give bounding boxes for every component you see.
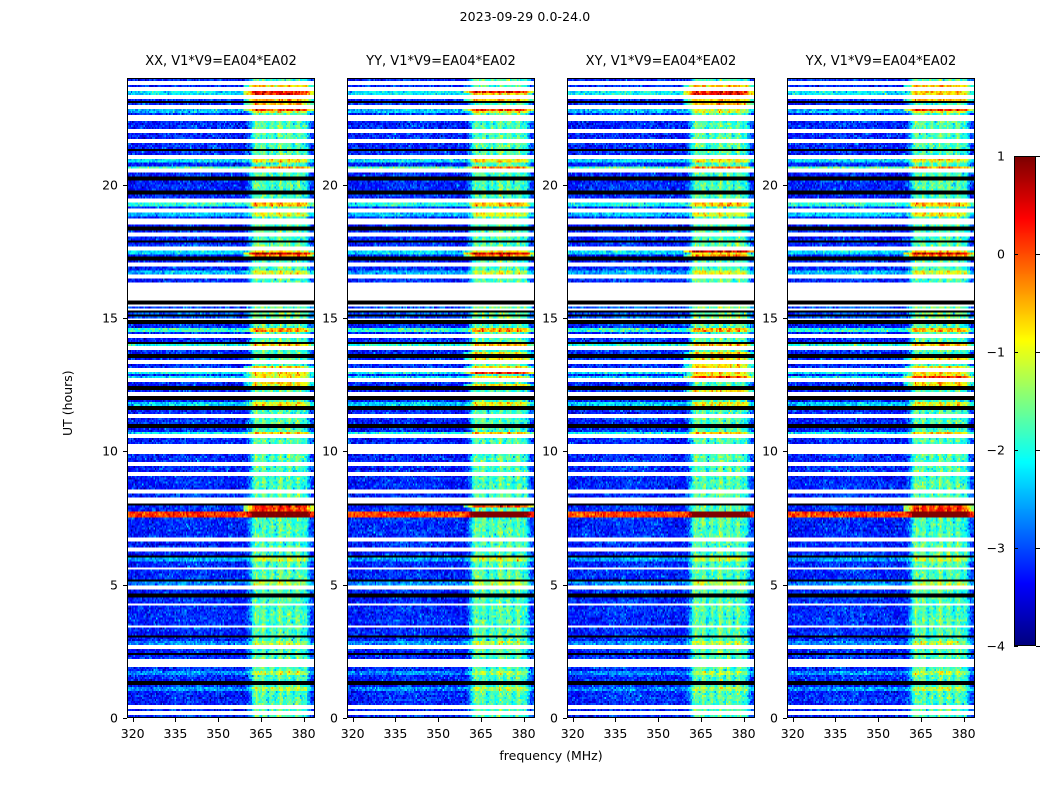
x-axis-tick: [524, 718, 525, 722]
y-axis-tick: [343, 585, 347, 586]
y-axis-tick-label: 10: [322, 444, 338, 459]
colorbar-tick: [1036, 450, 1040, 451]
x-axis-tick: [878, 718, 879, 722]
y-axis-tick-label: 0: [110, 711, 118, 726]
figure-suptitle: 2023-09-29 0.0-24.0: [0, 9, 1050, 24]
colorbar-tick: [1036, 548, 1040, 549]
x-axis-tick-label: 335: [383, 726, 407, 741]
colorbar-frame: [1014, 156, 1036, 646]
x-axis-tick: [395, 718, 396, 722]
x-axis-tick: [573, 718, 574, 722]
y-axis-tick-label: 20: [102, 177, 118, 192]
x-axis-tick-label: 365: [689, 726, 713, 741]
colorbar-tick-inner: [1014, 254, 1018, 255]
colorbar-tick-label: −3: [987, 541, 1005, 556]
x-axis-tick: [133, 718, 134, 722]
waterfall-image-xx: [128, 79, 314, 717]
y-axis-tick: [123, 318, 127, 319]
colorbar-tick-label: −2: [987, 443, 1005, 458]
x-axis-tick-label: 320: [561, 726, 585, 741]
y-axis-tick: [563, 318, 567, 319]
waterfall-image-yx: [788, 79, 974, 717]
y-axis-tick-label: 10: [762, 444, 778, 459]
y-axis-tick: [563, 718, 567, 719]
y-axis-tick-label: 20: [762, 177, 778, 192]
colorbar-tick: [1036, 352, 1040, 353]
waterfall-image-yy: [348, 79, 534, 717]
colorbar[interactable]: −4−3−2−101 log10 amplitude: [1014, 156, 1036, 646]
x-axis-tick-label: 350: [646, 726, 670, 741]
y-axis-tick: [343, 718, 347, 719]
x-axis-tick: [304, 718, 305, 722]
y-axis-tick-label: 10: [542, 444, 558, 459]
y-axis-tick-label: 5: [110, 577, 118, 592]
y-axis-tick-label: 15: [102, 311, 118, 326]
colorbar-tick-inner: [1014, 646, 1018, 647]
x-axis-tick: [921, 718, 922, 722]
x-axis-tick: [793, 718, 794, 722]
x-axis-tick-label: 350: [426, 726, 450, 741]
x-axis-tick: [261, 718, 262, 722]
y-axis-tick-label: 0: [770, 711, 778, 726]
colorbar-tick: [1036, 156, 1040, 157]
axes-frame-yy: [347, 78, 535, 718]
y-axis-tick-label: 15: [322, 311, 338, 326]
x-axis-tick-label: 350: [206, 726, 230, 741]
y-axis-tick: [563, 451, 567, 452]
x-axis-tick-label: 380: [732, 726, 756, 741]
colorbar-tick: [1036, 646, 1040, 647]
x-axis-tick-label: 380: [512, 726, 536, 741]
x-axis-tick-label: 335: [823, 726, 847, 741]
y-axis-tick: [123, 585, 127, 586]
y-axis-tick: [783, 451, 787, 452]
y-axis-tick: [123, 451, 127, 452]
x-axis-tick: [744, 718, 745, 722]
y-axis-tick-label: 15: [762, 311, 778, 326]
y-axis-tick: [343, 185, 347, 186]
x-axis-tick-label: 320: [781, 726, 805, 741]
y-axis-tick: [343, 451, 347, 452]
x-axis-tick: [481, 718, 482, 722]
colorbar-tick-inner: [1014, 352, 1018, 353]
waterfall-panel-xx[interactable]: XX, V1*V9=EA04*EA02320335350365380051015…: [127, 78, 315, 718]
x-axis-tick: [175, 718, 176, 722]
y-axis-tick: [783, 718, 787, 719]
waterfall-image-xy: [568, 79, 754, 717]
x-axis-tick: [615, 718, 616, 722]
x-axis-tick-label: 365: [249, 726, 273, 741]
colorbar-tick-inner: [1014, 156, 1018, 157]
x-axis-tick-label: 320: [341, 726, 365, 741]
y-axis-tick-label: 20: [542, 177, 558, 192]
axes-frame-yx: [787, 78, 975, 718]
y-axis-tick-label: 5: [330, 577, 338, 592]
colorbar-gradient: [1015, 157, 1035, 645]
waterfall-panel-yy[interactable]: YY, V1*V9=EA04*EA02320335350365380051015…: [347, 78, 535, 718]
colorbar-tick-label: 1: [997, 149, 1005, 164]
x-axis-tick: [658, 718, 659, 722]
y-axis-tick: [123, 718, 127, 719]
x-axis-tick: [964, 718, 965, 722]
axes-frame-xy: [567, 78, 755, 718]
y-axis-tick: [783, 585, 787, 586]
waterfall-panel-yx[interactable]: YX, V1*V9=EA04*EA02320335350365380051015…: [787, 78, 975, 718]
colorbar-tick-label: 0: [997, 247, 1005, 262]
x-axis-tick-label: 320: [121, 726, 145, 741]
y-axis-tick-label: 15: [542, 311, 558, 326]
colorbar-tick-inner: [1014, 548, 1018, 549]
x-axis-tick: [218, 718, 219, 722]
y-axis-tick-label: 5: [550, 577, 558, 592]
y-axis-tick-label: 0: [550, 711, 558, 726]
x-axis-tick-label: 380: [952, 726, 976, 741]
y-axis-tick: [783, 318, 787, 319]
figure-canvas: 2023-09-29 0.0-24.0 XX, V1*V9=EA04*EA023…: [0, 0, 1050, 800]
y-axis-tick-label: 5: [770, 577, 778, 592]
colorbar-tick-label: −4: [987, 639, 1005, 654]
x-axis-tick-label: 335: [603, 726, 627, 741]
x-axis-tick: [438, 718, 439, 722]
y-axis-tick-label: 20: [322, 177, 338, 192]
x-axis-label: frequency (MHz): [127, 748, 975, 763]
y-axis-tick: [343, 318, 347, 319]
x-axis-tick-label: 365: [909, 726, 933, 741]
y-axis-tick: [783, 185, 787, 186]
waterfall-panel-xy[interactable]: XY, V1*V9=EA04*EA02320335350365380051015…: [567, 78, 755, 718]
y-axis-label: UT (hours): [60, 370, 75, 436]
panel-title-yx: YX, V1*V9=EA04*EA02: [752, 54, 1010, 69]
y-axis-tick: [563, 185, 567, 186]
x-axis-tick: [835, 718, 836, 722]
x-axis-tick-label: 335: [163, 726, 187, 741]
x-axis-tick: [701, 718, 702, 722]
y-axis-tick-label: 0: [330, 711, 338, 726]
colorbar-tick-label: −1: [987, 345, 1005, 360]
axes-frame-xx: [127, 78, 315, 718]
x-axis-tick: [353, 718, 354, 722]
colorbar-tick-inner: [1014, 450, 1018, 451]
y-axis-tick-label: 10: [102, 444, 118, 459]
x-axis-tick-label: 365: [469, 726, 493, 741]
y-axis-tick: [563, 585, 567, 586]
x-axis-tick-label: 350: [866, 726, 890, 741]
colorbar-tick: [1036, 254, 1040, 255]
x-axis-tick-label: 380: [292, 726, 316, 741]
y-axis-tick: [123, 185, 127, 186]
